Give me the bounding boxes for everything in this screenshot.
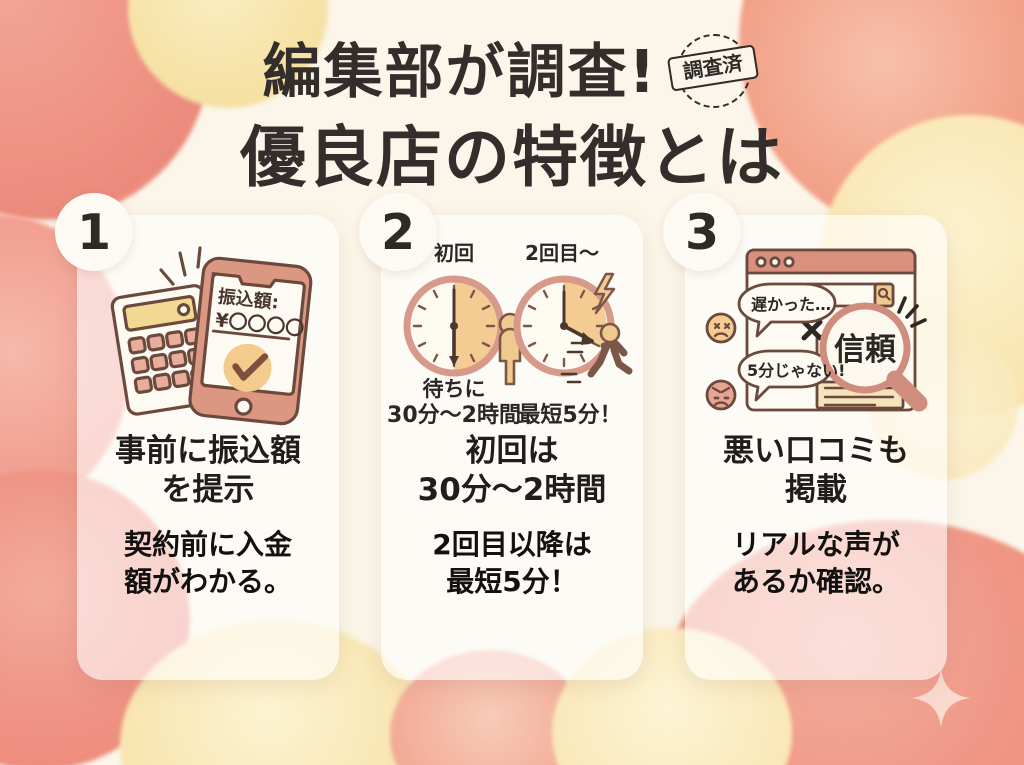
clock-left-top-label: 初回 [434, 241, 474, 265]
card-number-badge-1: 1 [55, 193, 133, 271]
angry-face-icon [707, 381, 735, 409]
feature-card-2[interactable]: 2 初回 2回目〜 [381, 215, 643, 680]
clock-left-wait-label: 待ちに [423, 377, 486, 401]
card-heading-line: 初回は [418, 432, 607, 470]
sad-face-icon [707, 314, 735, 342]
card-body-line: 額がわかる。 [124, 564, 292, 600]
card-body-line: あるか確認。 [732, 564, 900, 600]
card-number-badge-3: 3 [663, 193, 741, 271]
feature-card-1[interactable]: 1 [77, 215, 339, 680]
card-body-3: リアルな声が あるか確認。 [732, 527, 900, 600]
feature-card-3[interactable]: 3 [685, 215, 947, 680]
card-number-badge-2: 2 [359, 193, 437, 271]
page-header: 編集部が調査! 調査済 優良店の特徴とは [0, 0, 1024, 193]
clock-right-top-label: 2回目〜 [525, 241, 599, 265]
card-heading-line: 悪い口コミも [723, 432, 909, 470]
card-body-line: 最短5分！ [432, 564, 591, 600]
stamp-label: 調査済 [682, 53, 745, 84]
surveyed-stamp-icon: 調査済 [665, 26, 761, 118]
card-heading-3: 悪い口コミも 掲載 [723, 432, 909, 509]
card-body-1: 契約前に入金 額がわかる。 [124, 527, 292, 600]
clock-left [407, 279, 501, 373]
card-heading-line: 事前に振込額 [115, 432, 301, 470]
two-clocks-icon: 初回 2回目〜 [391, 235, 633, 430]
review-bubble-1-text: 遅かった… [751, 295, 831, 314]
card-body-2: 2回目以降は 最短5分！ [432, 527, 591, 600]
clock-right-duration-label: 最短5分！ [518, 403, 621, 428]
card-heading-2: 初回は 30分〜2時間 [418, 432, 607, 509]
review-browser-icon: 遅かった… 5分じゃない! 信頼 [695, 235, 937, 430]
page-title-line-1: 編集部が調査! 調査済 [263, 26, 762, 118]
clock-left-duration-label: 30分〜2時間 [387, 403, 521, 428]
card-heading-line: 掲載 [723, 471, 909, 509]
card-body-line: 契約前に入金 [124, 527, 292, 563]
card-body-line: リアルな声が [732, 527, 900, 563]
review-bubble-2-text: 5分じゃない! [747, 361, 845, 380]
page-title-line-2: 優良店の特徴とは [0, 122, 1024, 193]
page-title-text-1: 編集部が調査! [263, 40, 658, 104]
card-heading-line: を提示 [115, 471, 301, 509]
card-body-line: 2回目以降は [432, 527, 591, 563]
magnifier-label: 信頼 [834, 332, 897, 368]
card-heading-1: 事前に振込額 を提示 [115, 432, 301, 509]
card-heading-line: 30分〜2時間 [418, 471, 607, 509]
feature-card-list: 1 [0, 215, 1024, 680]
calculator-and-phone-icon: 振込額: ¥〇〇〇〇 [87, 235, 329, 430]
